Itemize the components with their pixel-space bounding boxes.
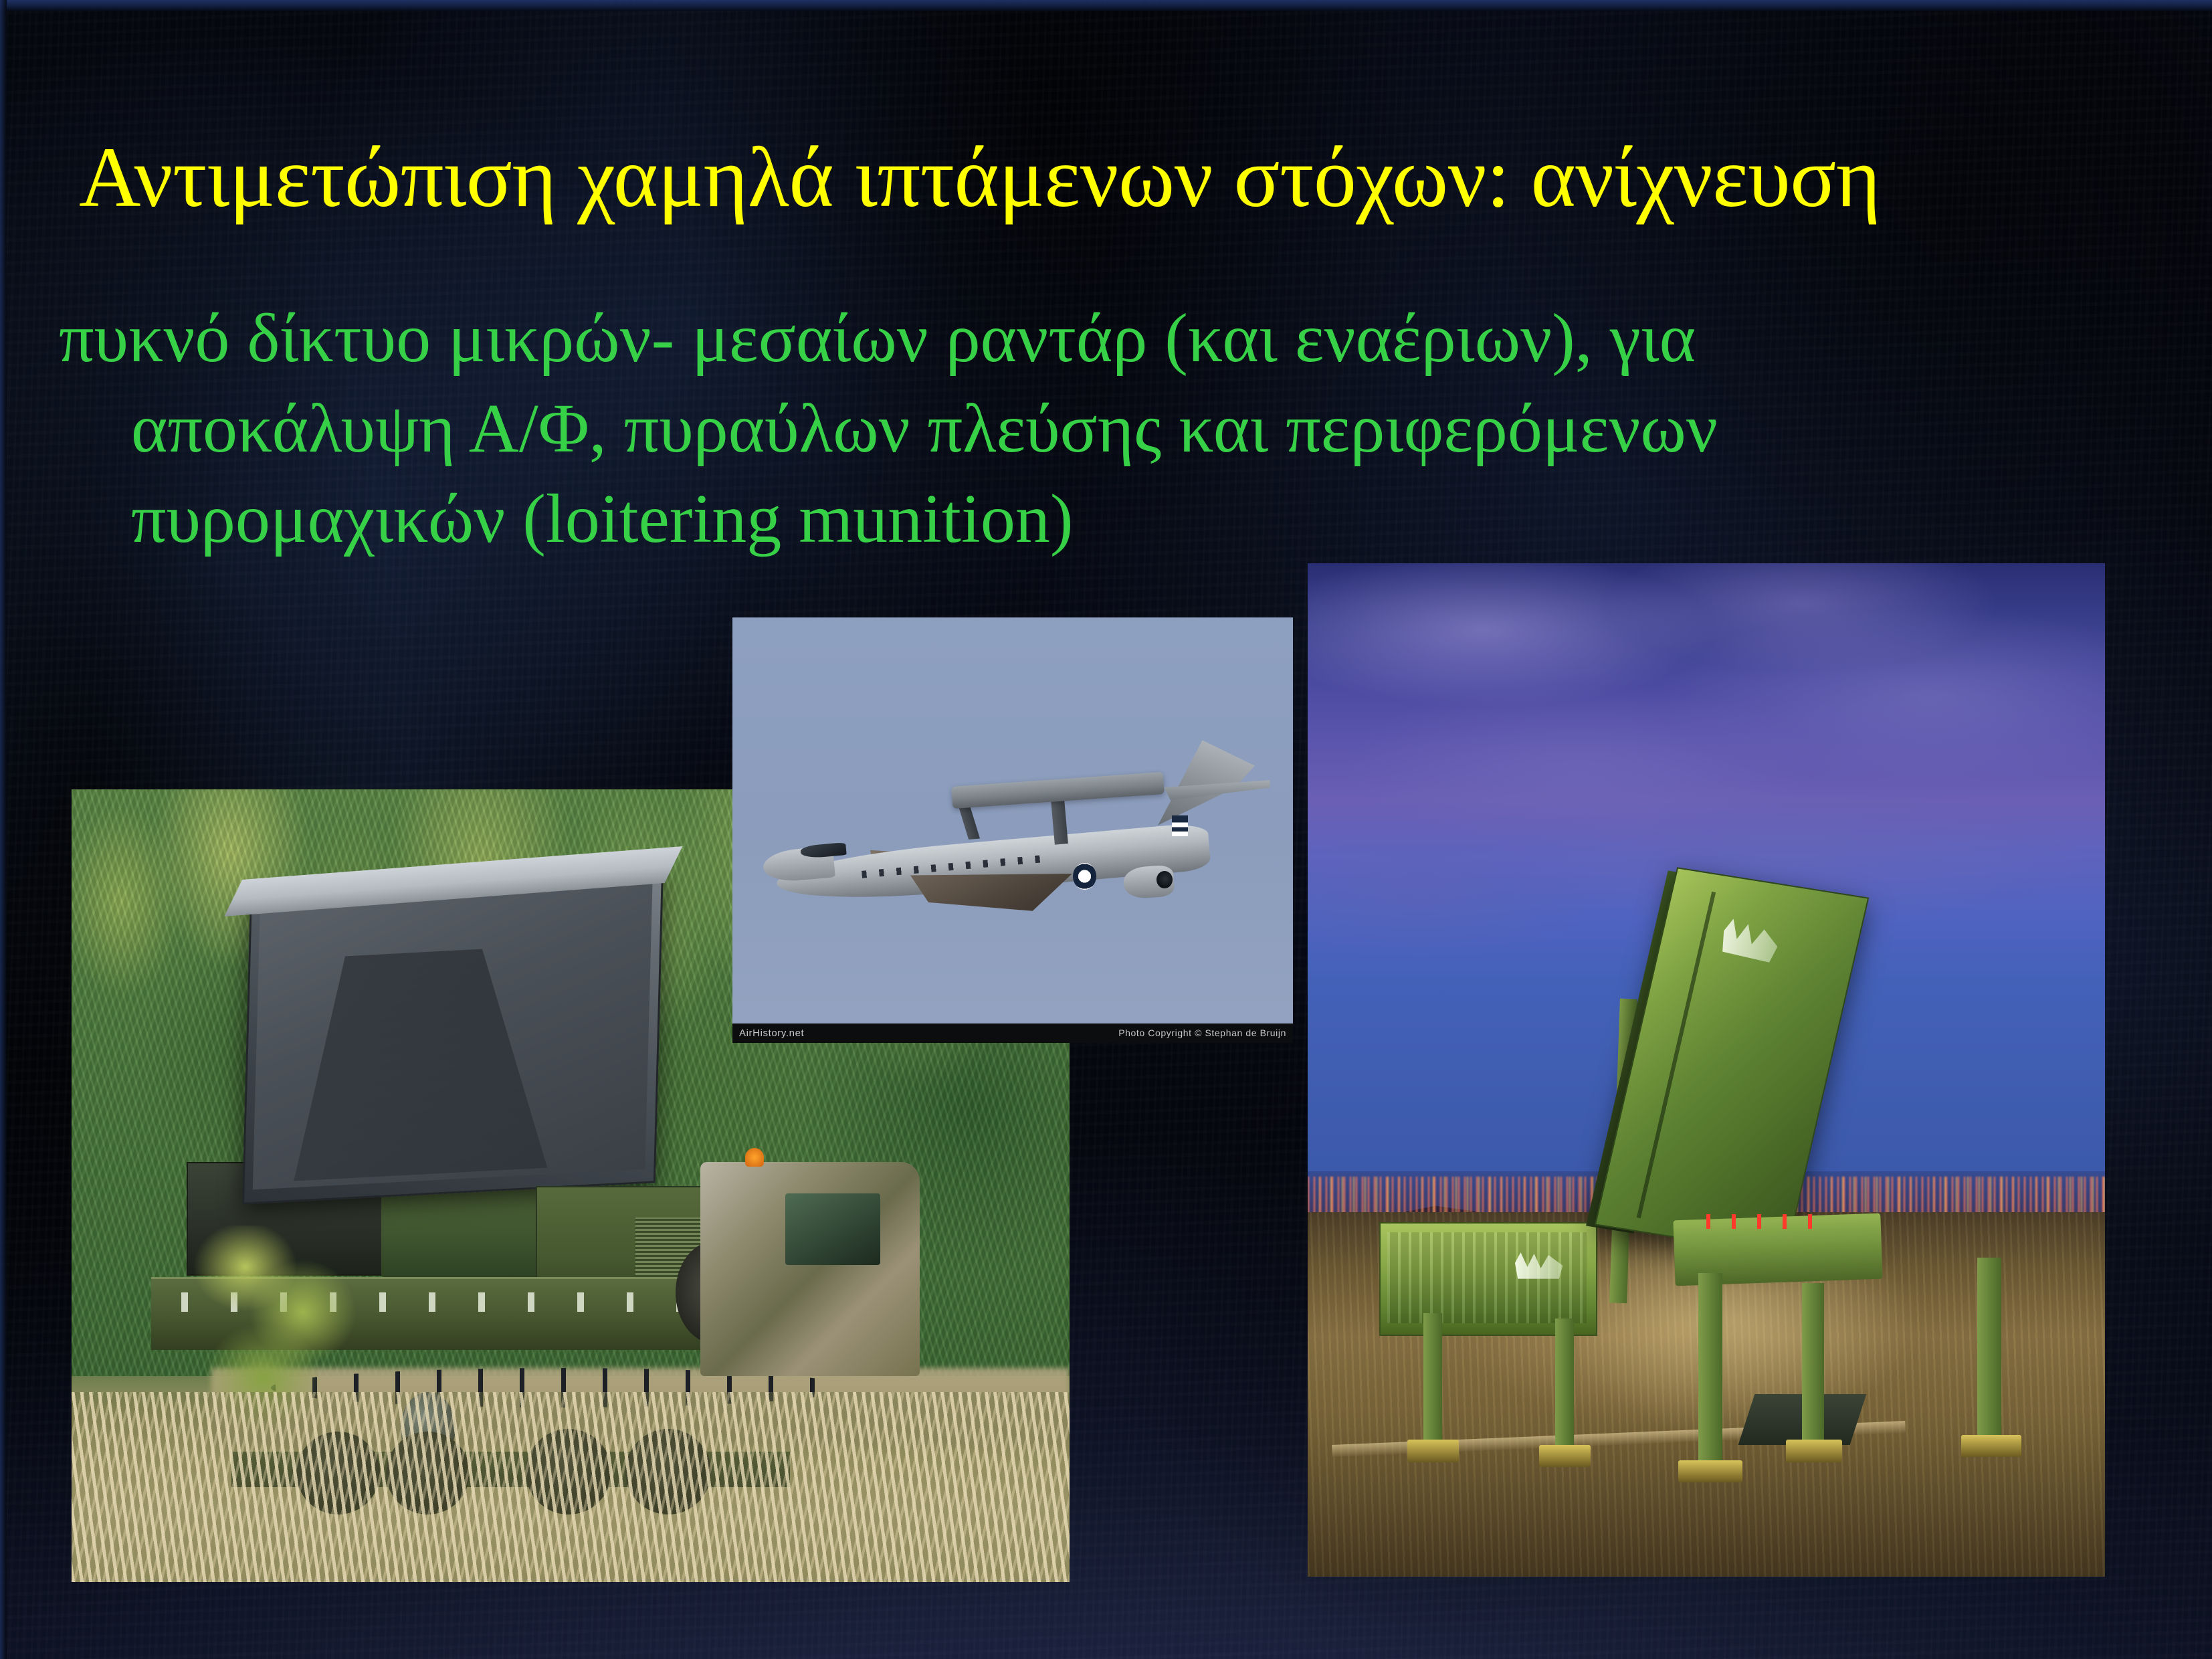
background-left-highlight bbox=[0, 0, 7, 1659]
radar-truck-foreground-grass bbox=[72, 1392, 1070, 1582]
presentation-slide: Αντιμετώπιση χαμηλά ιπτάμενων στόχων: αν… bbox=[0, 0, 2212, 1659]
slide-body-text: πυκνό δίκτυο μικρών- μεσαίων ραντάρ (και… bbox=[59, 293, 1985, 565]
aircraft-tail-flag bbox=[1172, 815, 1189, 836]
aircraft-body-group bbox=[761, 775, 1265, 932]
radar-truck-antenna-panel bbox=[242, 870, 664, 1205]
aircraft-roundel-insignia bbox=[1073, 863, 1096, 890]
watermark-source-label: AirHistory.net bbox=[739, 1028, 804, 1039]
aircraft-cockpit-window bbox=[801, 842, 847, 859]
night-radar-leg-footplate bbox=[1407, 1440, 1459, 1462]
night-radar-leg-footplate bbox=[1678, 1460, 1742, 1482]
body-line-2: αποκάλυψη Α/Φ, πυραύλων πλεύσης και περι… bbox=[59, 383, 1985, 474]
background-top-highlight bbox=[0, 0, 2212, 11]
body-line-1: πυκνό δίκτυο μικρών- μεσαίων ραντάρ (και… bbox=[59, 293, 1985, 383]
radar-truck-cab-window bbox=[785, 1193, 880, 1265]
aircraft-radome-pylon bbox=[1051, 799, 1068, 844]
night-radar-leg-footplate bbox=[1539, 1445, 1591, 1467]
slide-title: Αντιμετώπιση χαμηλά ιπτάμενων στόχων: αν… bbox=[79, 132, 2119, 223]
turntable-indicator-lights bbox=[1706, 1214, 1818, 1230]
image-night-radar bbox=[1308, 563, 2105, 1577]
night-radar-outrigger-leg bbox=[1423, 1313, 1443, 1445]
aircraft-watermark-bar: AirHistory.net Photo Copyright © Stephan… bbox=[732, 1023, 1293, 1043]
body-line-3: πυρομαχικών (loitering munition) bbox=[59, 474, 1985, 564]
image-aew-aircraft: AirHistory.net Photo Copyright © Stephan… bbox=[732, 617, 1293, 1043]
night-radar-outrigger-leg bbox=[1802, 1283, 1824, 1445]
night-radar-outrigger-leg bbox=[1698, 1273, 1722, 1466]
night-radar-outrigger-leg bbox=[1555, 1319, 1575, 1450]
night-radar-leg-footplate bbox=[1961, 1435, 2021, 1457]
night-radar-outrigger-leg bbox=[1977, 1258, 2001, 1440]
radar-truck-beacon-light bbox=[745, 1148, 764, 1167]
aircraft-engine-intake bbox=[1157, 871, 1173, 888]
night-radar-leg-footplate bbox=[1786, 1440, 1841, 1462]
watermark-copyright-label: Photo Copyright © Stephan de Bruijn bbox=[1118, 1028, 1286, 1038]
